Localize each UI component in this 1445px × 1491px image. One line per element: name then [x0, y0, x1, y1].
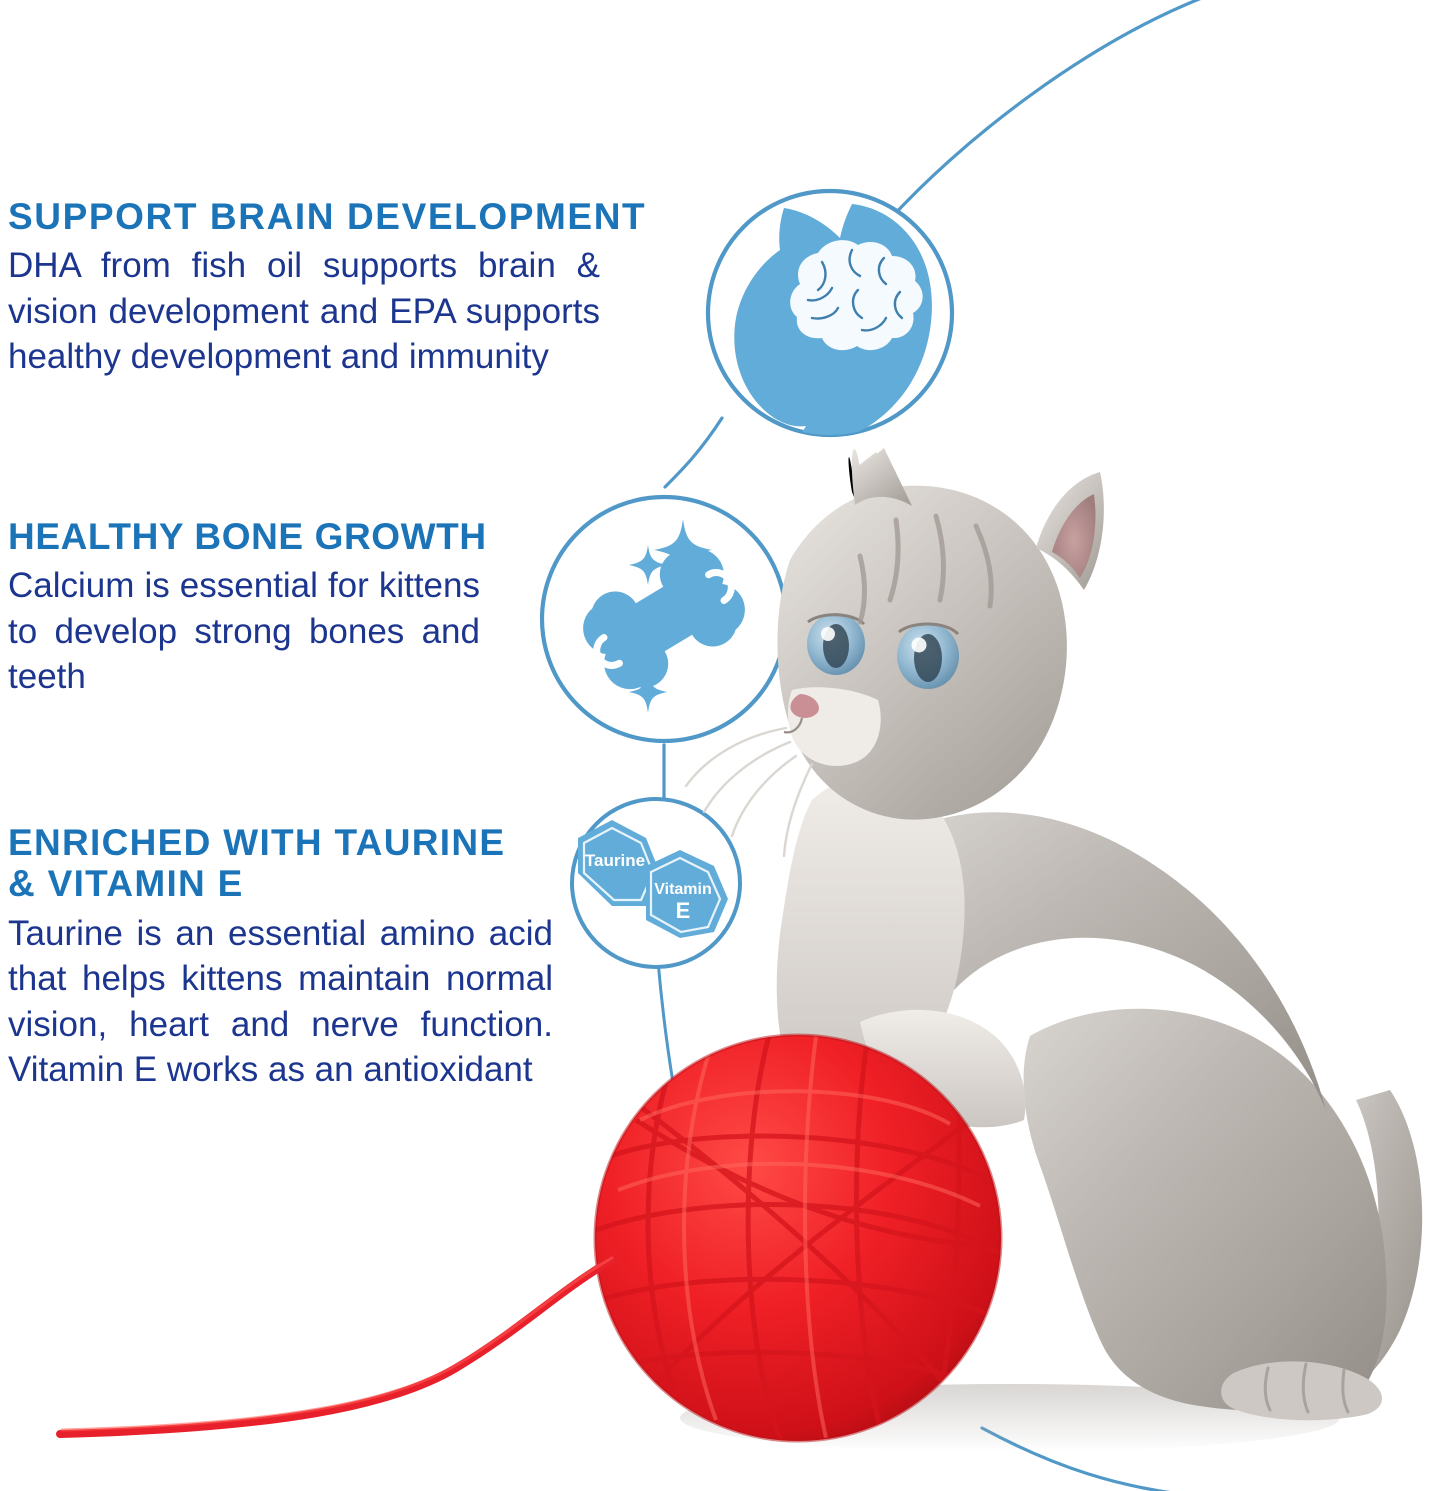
- taurine-vitamin-hexagons-icon: [572, 799, 740, 967]
- feature-title-brain: SUPPORT BRAIN DEVELOPMENT: [8, 196, 708, 237]
- cat-head-brain-icon: [708, 191, 952, 446]
- kitten-eye-right: [897, 623, 959, 689]
- kitten-eye-left: [807, 613, 865, 675]
- product-feature-infographic: SUPPORT BRAIN DEVELOPMENT DHA from fish …: [0, 0, 1445, 1491]
- kitten-body: [1024, 1009, 1387, 1411]
- connector-brain-to-bone: [665, 418, 722, 487]
- feature-title-taurine: ENRICHED WITH TAURINE & VITAMIN E: [8, 822, 560, 905]
- feature-body-taurine: Taurine is an essential amino acid that …: [8, 911, 553, 1093]
- yarn-strand: [60, 1260, 612, 1434]
- feature-body-bone: Calcium is essential for kittens to deve…: [8, 563, 480, 700]
- feature-body-brain: DHA from fish oil supports brain & visio…: [8, 243, 600, 380]
- yarn-strand-highlight: [62, 1258, 612, 1430]
- feature-block-taurine: ENRICHED WITH TAURINE & VITAMIN E Taurin…: [8, 822, 560, 1093]
- feature-title-bone: HEALTHY BONE GROWTH: [8, 516, 554, 557]
- bone-sparkle-icon: [542, 497, 786, 741]
- connector-top-curve: [882, 0, 1212, 228]
- feature-block-bone: HEALTHY BONE GROWTH Calcium is essential…: [8, 516, 554, 700]
- feature-block-brain: SUPPORT BRAIN DEVELOPMENT DHA from fish …: [8, 196, 708, 380]
